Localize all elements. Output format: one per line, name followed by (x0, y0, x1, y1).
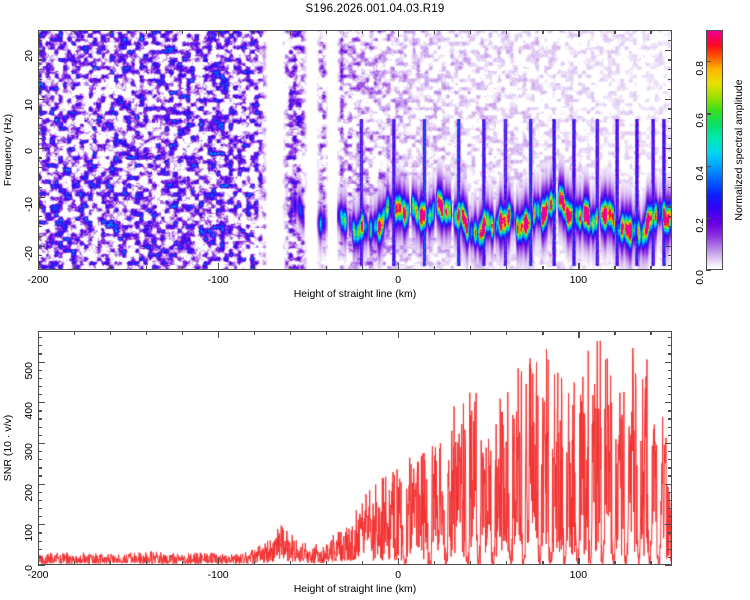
colorbar-tick-label: 0.8 (694, 61, 706, 76)
y-tick-label: 0 (23, 565, 35, 571)
x-tick-top (326, 331, 327, 335)
y-tick-right (668, 451, 672, 452)
x-tick-top (542, 30, 543, 34)
x-tick (110, 561, 111, 565)
x-tick (110, 266, 111, 270)
y-tick (38, 475, 42, 476)
y-tick-right (668, 427, 672, 428)
y-tick (38, 59, 42, 60)
x-tick-top (578, 30, 579, 37)
y-tick-right (668, 557, 672, 558)
y-tick (38, 345, 42, 346)
y-tick-right (668, 118, 672, 119)
y-tick-label: 100 (23, 524, 35, 542)
y-tick-right (668, 226, 672, 227)
y-tick-right (668, 353, 672, 354)
x-tick-top (434, 331, 435, 335)
y-tick (38, 99, 45, 100)
y-tick-right (665, 524, 672, 525)
y-tick-right (668, 410, 672, 411)
x-tick (650, 561, 651, 565)
x-tick-top (182, 30, 183, 34)
y-tick (38, 394, 42, 395)
y-tick (38, 459, 42, 460)
x-tick-label: 0 (395, 274, 401, 286)
y-tick-right (668, 541, 672, 542)
y-tick (38, 362, 45, 363)
x-tick-label: 0 (395, 569, 401, 581)
x-tick (542, 266, 543, 270)
y-tick (38, 177, 42, 178)
x-tick (614, 561, 615, 565)
y-tick-right (668, 532, 672, 533)
x-axis-title: Height of straight line (km) (294, 288, 417, 300)
figure-title: S196.2026.001.04.03.R19 (0, 3, 750, 15)
y-tick-right (668, 265, 672, 266)
x-tick (650, 266, 651, 270)
x-tick (614, 266, 615, 270)
y-axis-title: SNR (10 · v/v) (2, 415, 14, 482)
y-tick-right (668, 108, 672, 109)
y-tick-right (668, 345, 672, 346)
y-tick-right (668, 508, 672, 509)
y-tick (38, 410, 42, 411)
x-tick-top (254, 30, 255, 34)
y-tick (38, 40, 42, 41)
y-tick (38, 549, 42, 550)
y-tick-right (665, 246, 672, 247)
y-tick (38, 108, 42, 109)
y-tick-label: 10 (23, 99, 35, 111)
y-tick-right (668, 216, 672, 217)
x-tick-label: -100 (208, 569, 229, 581)
y-tick (38, 565, 45, 566)
y-tick-right (668, 255, 672, 256)
y-tick-right (668, 30, 672, 31)
x-tick-top (398, 30, 399, 37)
y-tick (38, 157, 42, 158)
y-tick (38, 353, 42, 354)
y-tick (38, 50, 45, 51)
colorbar-tick (706, 113, 711, 114)
y-tick-right (668, 386, 672, 387)
colorbar-tick-label: 0.0 (694, 270, 706, 285)
y-tick-right (665, 197, 672, 198)
y-tick (38, 484, 45, 485)
colorbar-tick-label: 0.4 (694, 166, 706, 181)
y-tick-label: -20 (23, 246, 35, 261)
y-tick-right (668, 459, 672, 460)
y-tick-right (665, 565, 672, 566)
x-tick (218, 263, 219, 270)
y-tick-label: 200 (23, 484, 35, 502)
y-tick (38, 427, 42, 428)
y-tick (38, 265, 42, 266)
x-tick (398, 263, 399, 270)
y-tick (38, 236, 42, 237)
x-tick-top (470, 30, 471, 34)
x-tick (362, 266, 363, 270)
colorbar-tick (706, 61, 711, 62)
x-tick (74, 561, 75, 565)
colorbar-tick (706, 166, 711, 167)
y-tick-right (668, 435, 672, 436)
y-tick-right (668, 138, 672, 139)
x-tick (290, 561, 291, 565)
x-tick (434, 266, 435, 270)
x-tick-top (614, 30, 615, 34)
x-tick-label: 100 (570, 274, 588, 286)
y-tick-right (668, 418, 672, 419)
y-tick-right (668, 516, 672, 517)
y-tick-right (665, 50, 672, 51)
x-tick-top (650, 30, 651, 34)
y-tick (38, 148, 45, 149)
y-tick (38, 255, 42, 256)
x-tick-top (146, 30, 147, 34)
y-tick-label: 500 (23, 362, 35, 380)
y-tick (38, 443, 45, 444)
spectrogram-axes (38, 30, 672, 270)
y-tick-right (665, 402, 672, 403)
x-tick (146, 266, 147, 270)
y-tick (38, 557, 42, 558)
y-tick-right (668, 394, 672, 395)
x-tick (542, 561, 543, 565)
y-tick-label: -10 (23, 197, 35, 212)
y-tick-right (668, 467, 672, 468)
y-tick (38, 197, 45, 198)
y-tick-right (668, 59, 672, 60)
y-tick (38, 386, 42, 387)
x-tick-top (218, 30, 219, 37)
y-tick-right (668, 206, 672, 207)
y-tick (38, 451, 42, 452)
colorbar-gradient (707, 31, 722, 269)
x-tick (218, 558, 219, 565)
y-tick-right (668, 337, 672, 338)
x-tick-top (290, 30, 291, 34)
y-tick-right (668, 475, 672, 476)
y-tick (38, 524, 45, 525)
x-tick (362, 561, 363, 565)
x-tick (326, 561, 327, 565)
y-tick-right (665, 443, 672, 444)
x-tick (254, 561, 255, 565)
colorbar-tick (706, 218, 711, 219)
snr-axes (38, 331, 672, 565)
x-tick-top (362, 30, 363, 34)
x-tick (434, 561, 435, 565)
x-tick (290, 266, 291, 270)
x-tick-top (362, 331, 363, 335)
y-tick (38, 79, 42, 80)
x-tick-top (470, 331, 471, 335)
x-tick-top (182, 331, 183, 335)
x-tick (38, 263, 39, 270)
y-tick (38, 500, 42, 501)
x-tick-top (506, 331, 507, 335)
y-tick-right (668, 167, 672, 168)
x-tick (326, 266, 327, 270)
x-tick (38, 558, 39, 565)
x-tick-top (650, 331, 651, 335)
y-tick-right (668, 157, 672, 158)
y-tick-right (665, 148, 672, 149)
y-tick (38, 118, 42, 119)
x-tick-top (506, 30, 507, 34)
y-tick (38, 89, 42, 90)
y-tick-right (668, 69, 672, 70)
x-tick-top (74, 331, 75, 335)
y-tick (38, 492, 42, 493)
y-tick-right (668, 236, 672, 237)
y-tick (38, 516, 42, 517)
y-tick-right (668, 370, 672, 371)
y-tick (38, 541, 42, 542)
figure-root: S196.2026.001.04.03.R19 -200-1000100Heig… (0, 0, 750, 600)
y-tick-right (668, 177, 672, 178)
x-tick-top (254, 331, 255, 335)
y-tick (38, 226, 42, 227)
y-tick (38, 216, 42, 217)
y-tick (38, 167, 42, 168)
x-tick (470, 561, 471, 565)
colorbar-tick-label: 0.6 (694, 113, 706, 128)
y-tick (38, 138, 42, 139)
y-tick (38, 337, 42, 338)
y-tick (38, 402, 45, 403)
colorbar (706, 30, 723, 270)
y-tick (38, 370, 42, 371)
y-tick-label: 400 (23, 402, 35, 420)
x-tick-top (146, 331, 147, 335)
x-tick (146, 561, 147, 565)
y-tick-right (665, 362, 672, 363)
y-tick (38, 128, 42, 129)
y-tick-label: 300 (23, 443, 35, 461)
x-tick-top (542, 331, 543, 335)
x-tick (182, 266, 183, 270)
x-tick-label: -200 (27, 274, 48, 286)
y-tick (38, 206, 42, 207)
x-tick-top (110, 331, 111, 335)
colorbar-label: Normalized spectral amplitude (733, 79, 745, 220)
x-tick-top (110, 30, 111, 34)
x-tick-top (398, 331, 399, 338)
x-tick (254, 266, 255, 270)
y-tick-right (668, 492, 672, 493)
y-tick (38, 378, 42, 379)
x-tick (578, 558, 579, 565)
y-tick-right (665, 484, 672, 485)
y-tick (38, 508, 42, 509)
spectrogram-plot-area (39, 31, 671, 269)
y-tick (38, 30, 42, 31)
x-tick-label: -100 (208, 274, 229, 286)
snr-plot-area (39, 332, 671, 564)
y-tick-right (668, 89, 672, 90)
x-tick-top (218, 331, 219, 338)
y-tick (38, 418, 42, 419)
colorbar-tick-label: 0.2 (694, 218, 706, 233)
y-tick-right (668, 549, 672, 550)
y-tick (38, 69, 42, 70)
spectrogram-image (39, 31, 671, 269)
y-axis-title: Frequency (Hz) (2, 114, 14, 186)
x-tick (506, 266, 507, 270)
x-tick (506, 561, 507, 565)
x-tick-label: 100 (570, 569, 588, 581)
y-tick-right (668, 378, 672, 379)
x-tick-top (434, 30, 435, 34)
snr-line-trace (39, 332, 671, 564)
y-tick (38, 187, 42, 188)
x-tick (470, 266, 471, 270)
x-tick (398, 558, 399, 565)
y-tick-label: 0 (23, 148, 35, 154)
colorbar-tick (706, 270, 711, 271)
y-tick (38, 532, 42, 533)
y-tick-right (665, 99, 672, 100)
y-tick-right (668, 500, 672, 501)
y-tick (38, 435, 42, 436)
x-tick-top (290, 331, 291, 335)
x-axis-title: Height of straight line (km) (294, 583, 417, 595)
y-tick-right (668, 128, 672, 129)
y-tick-right (668, 187, 672, 188)
y-tick (38, 246, 45, 247)
x-tick (578, 263, 579, 270)
x-tick (74, 266, 75, 270)
y-tick-label: 20 (23, 50, 35, 62)
y-tick-right (668, 79, 672, 80)
y-tick (38, 467, 42, 468)
x-tick-top (578, 331, 579, 338)
x-tick-top (74, 30, 75, 34)
x-tick (182, 561, 183, 565)
x-tick-top (326, 30, 327, 34)
x-tick-top (614, 331, 615, 335)
y-tick-right (668, 40, 672, 41)
